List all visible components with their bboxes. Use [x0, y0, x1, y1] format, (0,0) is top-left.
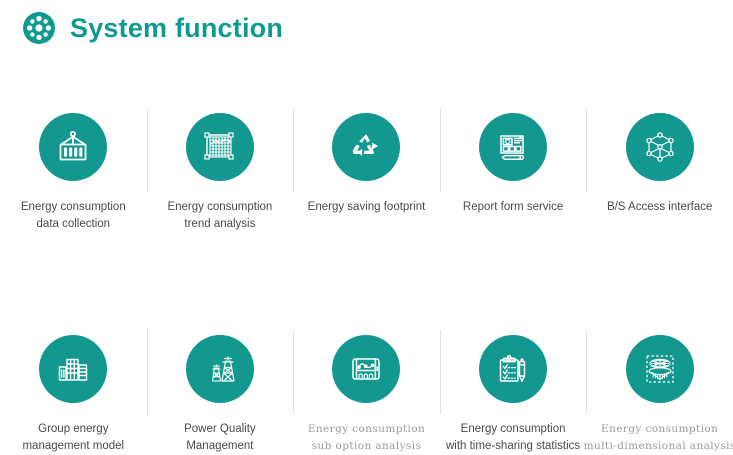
function-item-label: Energy consumption sub option analysis	[286, 421, 446, 455]
page-header: System function	[22, 11, 283, 45]
function-row: Group energy management model	[0, 318, 733, 455]
function-item-energy-consumption-data-collection[interactable]: Energy consumption data collection	[0, 96, 147, 233]
function-item-label: Group energy management model	[0, 421, 146, 455]
function-item-label: Energy consumption trend analysis	[147, 199, 293, 233]
page-title: System function	[70, 15, 283, 42]
function-item-energy-consumption-multi-dimensional-analysis[interactable]: Energy consumption multi-dimensional ana…	[586, 318, 733, 455]
function-item-group-energy-management-model[interactable]: Group energy management model	[0, 318, 147, 455]
function-grid: Energy consumption data collection	[0, 96, 733, 455]
multidimensional-analysis-icon	[626, 335, 694, 403]
cube-network-icon	[626, 113, 694, 181]
function-item-label: B/S Access interface	[587, 199, 733, 216]
buildings-icon	[39, 335, 107, 403]
tablet-chart-icon	[332, 335, 400, 403]
function-item-label: Report form service	[440, 199, 586, 216]
function-item-report-form-service[interactable]: Report form service	[440, 96, 587, 233]
grid-chart-icon	[186, 113, 254, 181]
clipboard-pen-icon	[479, 335, 547, 403]
function-item-energy-consumption-time-sharing-statistics[interactable]: Energy consumption with time-sharing sta…	[440, 318, 587, 455]
function-item-energy-consumption-sub-option-analysis[interactable]: Energy consumption sub option analysis	[293, 318, 440, 455]
nodes-circle-icon	[22, 11, 56, 45]
function-item-energy-consumption-trend-analysis[interactable]: Energy consumption trend analysis	[147, 96, 294, 233]
function-item-label: Energy consumption with time-sharing sta…	[440, 421, 586, 455]
function-item-bs-access-interface[interactable]: B/S Access interface	[586, 96, 733, 233]
recycle-icon	[332, 113, 400, 181]
function-item-energy-saving-footprint[interactable]: Energy saving footprint	[293, 96, 440, 233]
report-layout-pencil-icon	[479, 113, 547, 181]
function-row: Energy consumption data collection	[0, 96, 733, 233]
power-tower-icon	[186, 335, 254, 403]
function-item-label: Power Quality Management	[147, 421, 293, 455]
function-item-label: Energy consumption data collection	[0, 199, 146, 233]
function-item-power-quality-management[interactable]: Power Quality Management	[147, 318, 294, 455]
function-item-label: Energy saving footprint	[293, 199, 439, 216]
shipping-container-icon	[39, 113, 107, 181]
function-item-label: Energy consumption multi-dimensional ana…	[580, 421, 733, 455]
